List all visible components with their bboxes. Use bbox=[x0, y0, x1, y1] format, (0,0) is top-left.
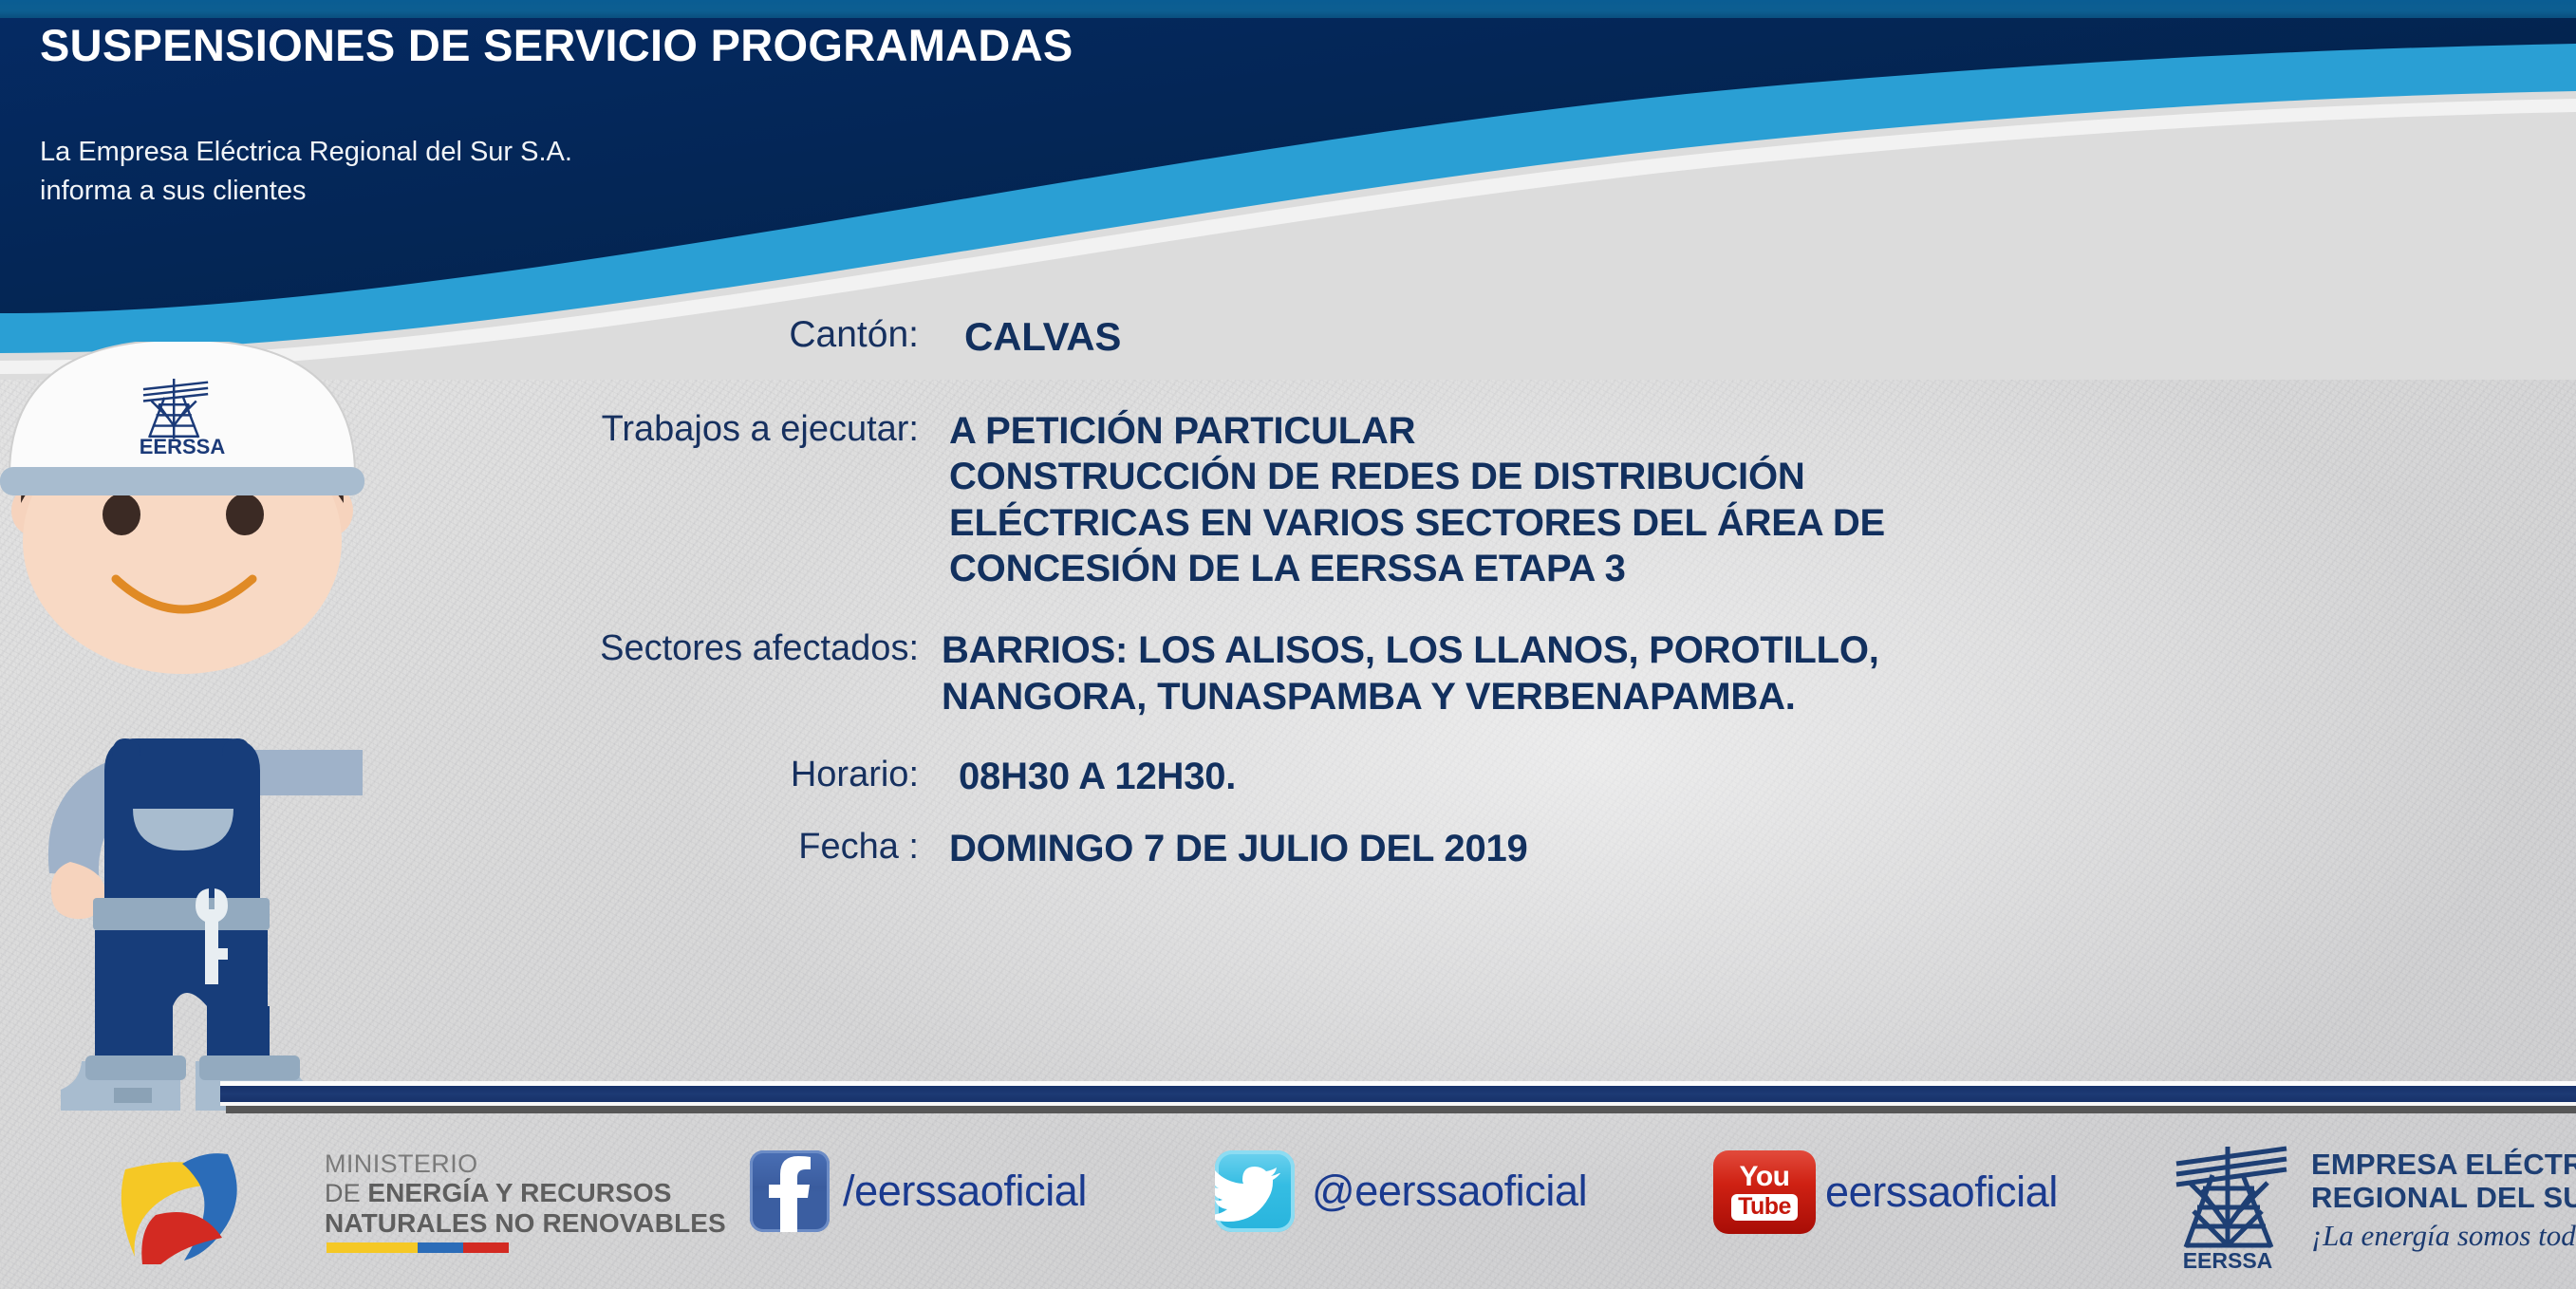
footer-divider bbox=[220, 1081, 2576, 1115]
brand-line-1: EMPRESA ELÉCTRICA bbox=[2311, 1149, 2576, 1182]
label-horario: Horario: bbox=[0, 754, 940, 796]
label-sectores: Sectores afectados: bbox=[0, 627, 940, 670]
trabajos-line-4: CONCESIÓN DE LA EERSSA ETAPA 3 bbox=[949, 546, 1885, 591]
info-row-trabajos: Trabajos a ejecutar: A PETICIÓN PARTICUL… bbox=[0, 408, 2576, 592]
eerssa-brand-block: EERSSA EMPRESA ELÉCTRICA REGIONAL DEL SU… bbox=[2169, 1133, 2567, 1276]
poster-canvas: SUSPENSIONES DE SERVICIO PROGRAMADAS La … bbox=[0, 0, 2576, 1289]
value-fecha: DOMINGO 7 DE JULIO DEL 2019 bbox=[940, 826, 1528, 871]
twitter-icon[interactable] bbox=[1215, 1150, 1295, 1232]
ministry-text: MINISTERIO DE ENERGÍA Y RECURSOS NATURAL… bbox=[325, 1150, 799, 1240]
sectores-line-1: BARRIOS: LOS ALISOS, LOS LLANOS, POROTIL… bbox=[942, 627, 1879, 673]
ministry-logo-block: MINISTERIO DE ENERGÍA Y RECURSOS NATURAL… bbox=[114, 1141, 740, 1264]
flag-stripe-yellow bbox=[327, 1242, 418, 1253]
ministry-line-2-bold: ENERGÍA Y RECURSOS bbox=[367, 1178, 671, 1207]
info-row-canton: Cantón: CALVAS bbox=[0, 313, 2576, 362]
ecuador-flag-bar bbox=[327, 1242, 509, 1253]
fecha-value-text: DOMINGO 7 DE JULIO DEL 2019 bbox=[949, 826, 1528, 871]
ministry-line-3: NATURALES NO RENOVABLES bbox=[325, 1208, 799, 1239]
brand-slogan: ¡La energía somos todos! bbox=[2311, 1218, 2576, 1255]
horario-value-text: 08H30 A 12H30. bbox=[959, 754, 1236, 799]
youtube-you-text: You bbox=[1740, 1164, 1790, 1191]
label-trabajos: Trabajos a ejecutar: bbox=[0, 408, 940, 451]
flag-stripe-red bbox=[463, 1242, 509, 1253]
eerssa-tower-logo-icon: EERSSA bbox=[2169, 1133, 2302, 1274]
youtube-tube-text: Tube bbox=[1731, 1194, 1798, 1221]
label-canton: Cantón: bbox=[0, 313, 940, 357]
twitter-link[interactable]: @eerssaoficial bbox=[1215, 1150, 1587, 1232]
outage-info-block: Cantón: CALVAS Trabajos a ejecutar: A PE… bbox=[0, 313, 2576, 871]
youtube-link[interactable]: You Tube eerssaoficial bbox=[1713, 1150, 2058, 1234]
trabajos-line-2: CONSTRUCCIÓN DE REDES DE DISTRIBUCIÓN bbox=[949, 454, 1885, 499]
canton-value-text: CALVAS bbox=[964, 313, 1121, 362]
flag-stripe-blue bbox=[418, 1242, 463, 1253]
value-canton: CALVAS bbox=[940, 313, 1121, 362]
sectores-line-2: NANGORA, TUNASPAMBA Y VERBENAPAMBA. bbox=[942, 674, 1879, 719]
footer-bar: MINISTERIO DE ENERGÍA Y RECURSOS NATURAL… bbox=[0, 1120, 2576, 1289]
info-row-fecha: Fecha : DOMINGO 7 DE JULIO DEL 2019 bbox=[0, 826, 2576, 871]
header-subtitle-line1: La Empresa Eléctrica Regional del Sur S.… bbox=[40, 133, 989, 172]
facebook-handle[interactable]: /eerssaoficial bbox=[843, 1167, 1087, 1216]
page-title: SUSPENSIONES DE SERVICIO PROGRAMADAS bbox=[40, 19, 1464, 71]
facebook-link[interactable]: /eerssaoficial bbox=[750, 1150, 1087, 1232]
trabajos-line-1: A PETICIÓN PARTICULAR bbox=[949, 408, 1885, 454]
ministry-line-2-plain: DE bbox=[325, 1179, 367, 1207]
eerssa-brand-text: EMPRESA ELÉCTRICA REGIONAL DEL SUR S.A. … bbox=[2311, 1149, 2576, 1255]
info-row-horario: Horario: 08H30 A 12H30. bbox=[0, 754, 2576, 799]
trabajos-line-3: ELÉCTRICAS EN VARIOS SECTORES DEL ÁREA D… bbox=[949, 500, 1885, 546]
eerssa-logo-label: EERSSA bbox=[2183, 1248, 2273, 1273]
ministry-line-2: DE ENERGÍA Y RECURSOS bbox=[325, 1178, 799, 1208]
value-horario: 08H30 A 12H30. bbox=[940, 754, 1236, 799]
label-fecha: Fecha : bbox=[0, 826, 940, 869]
ministry-line-1: MINISTERIO bbox=[325, 1150, 799, 1178]
header-subtitle: La Empresa Eléctrica Regional del Sur S.… bbox=[40, 133, 989, 211]
value-sectores: BARRIOS: LOS ALISOS, LOS LLANOS, POROTIL… bbox=[940, 627, 1879, 719]
header-subtitle-line2: informa a sus clientes bbox=[40, 172, 989, 211]
youtube-handle[interactable]: eerssaoficial bbox=[1825, 1168, 2058, 1217]
divider-navy-bar bbox=[220, 1086, 2576, 1102]
facebook-icon[interactable] bbox=[750, 1150, 830, 1232]
ecuador-ministry-emblem-icon bbox=[114, 1141, 294, 1264]
info-row-sectores: Sectores afectados: BARRIOS: LOS ALISOS,… bbox=[0, 627, 2576, 719]
twitter-handle[interactable]: @eerssaoficial bbox=[1312, 1167, 1587, 1216]
divider-gray-shadow bbox=[226, 1106, 2576, 1113]
value-trabajos: A PETICIÓN PARTICULAR CONSTRUCCIÓN DE RE… bbox=[940, 408, 1885, 592]
youtube-icon[interactable]: You Tube bbox=[1713, 1150, 1816, 1234]
brand-line-2: REGIONAL DEL SUR S.A. bbox=[2311, 1182, 2576, 1215]
